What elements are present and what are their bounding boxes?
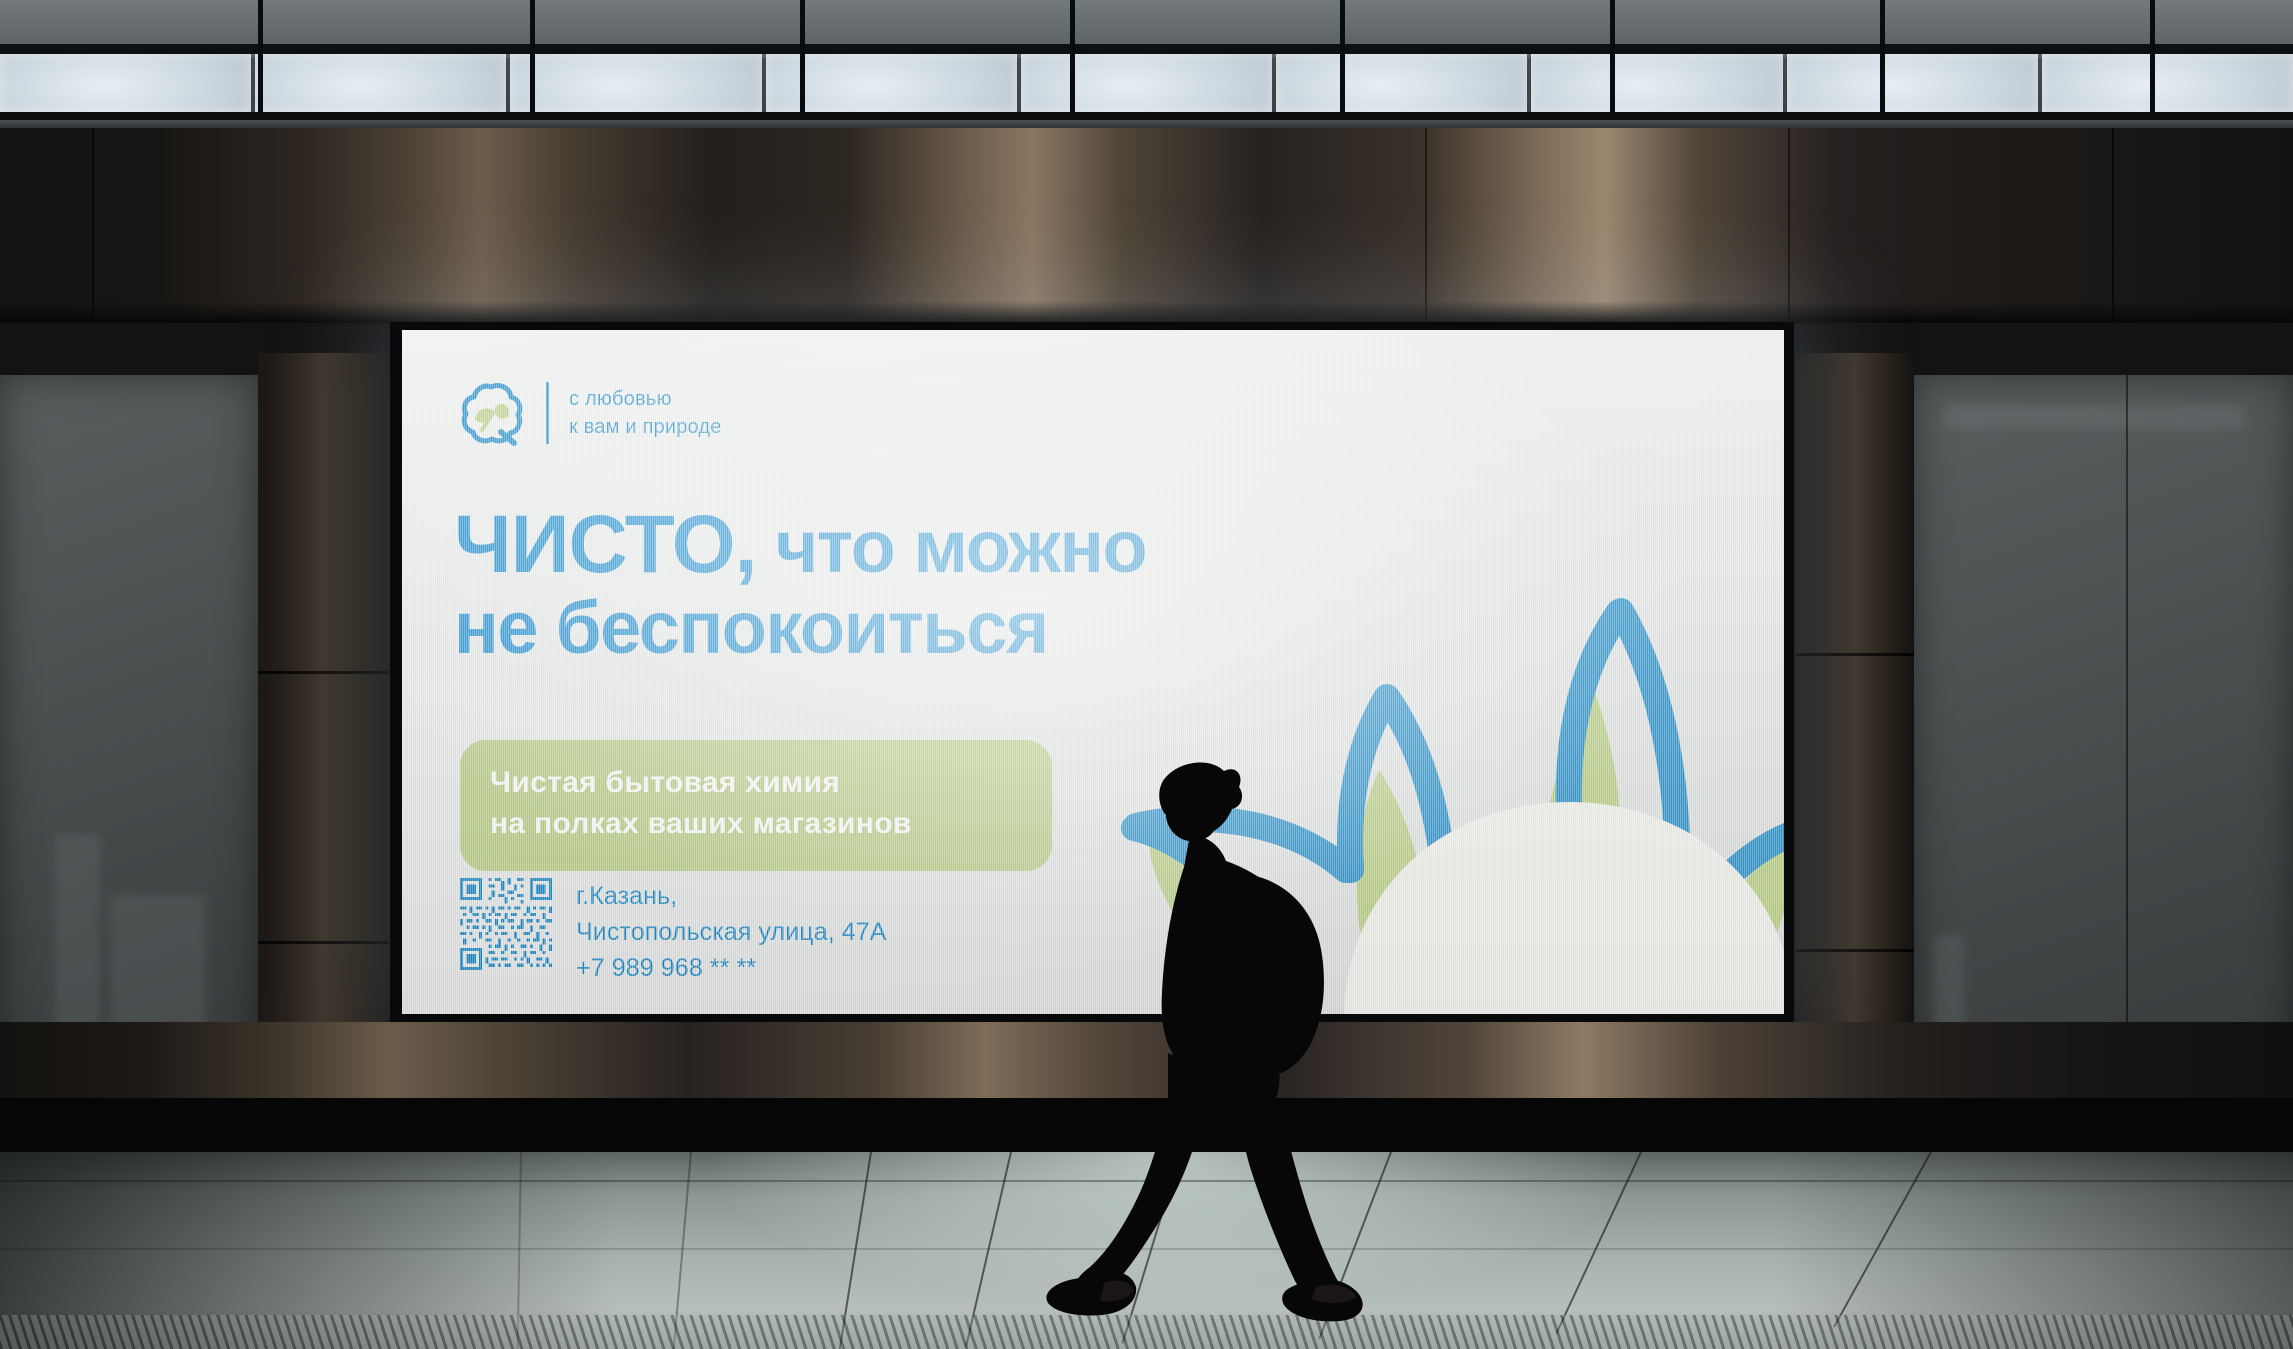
offer-badge-line-2: на полках ваших магазинов [490, 803, 1022, 844]
contact-street: Чистопольская улица, 47А [576, 914, 887, 950]
offer-badge: Чистая бытовая химия на полках ваших маг… [460, 740, 1052, 871]
right-glass-panel [1914, 375, 2293, 1065]
ceiling-lower-band [0, 112, 2293, 120]
ceiling-seam [2150, 0, 2155, 120]
contact-phone: +7 989 968 ** ** [576, 950, 887, 986]
wall-seam [1788, 128, 1790, 323]
ceiling-light-panel [2042, 54, 2293, 112]
logo-divider [546, 382, 549, 444]
ceiling-seam [530, 0, 535, 120]
contact-details: г.Казань, Чистопольская улица, 47А +7 98… [576, 878, 887, 986]
ceiling-seam [1610, 0, 1615, 120]
headline-emphasis: ЧИСТО, [454, 499, 756, 590]
walking-pedestrian-silhouette [1040, 735, 1380, 1335]
ceiling-seam [1340, 0, 1345, 120]
ceiling-light-panel [1787, 54, 2038, 112]
ceiling-light-panel [1531, 54, 1782, 112]
street-scene: с любовью к вам и природе ЧИСТО, что мож… [0, 0, 2293, 1349]
wall-seam [92, 128, 94, 323]
wall-seam [2112, 128, 2114, 323]
ceiling-light-panel [255, 54, 506, 112]
wall-seam [1425, 128, 1427, 323]
ceiling [0, 0, 2293, 128]
brand-logo-row: с любовью к вам и природе [460, 380, 722, 446]
ceiling-light-panel-row [0, 54, 2293, 112]
ceiling-light-panel [510, 54, 761, 112]
brand-tagline: с любовью к вам и природе [569, 385, 722, 442]
headline-line-1: ЧИСТО, что можно [454, 502, 1146, 589]
right-glass-seam [2126, 375, 2128, 1065]
left-glass-panel [0, 375, 258, 1065]
upper-bronze-wall-band [0, 128, 2293, 323]
contact-city: г.Казань, [576, 878, 887, 914]
ceiling-seam [800, 0, 805, 120]
ceiling-light-panel [1276, 54, 1527, 112]
ceiling-seam [1070, 0, 1075, 120]
headline-line-1-rest: что можно [756, 505, 1146, 588]
offer-badge-line-1: Чистая бытовая химия [490, 762, 1022, 803]
qr-code-icon[interactable] [460, 878, 552, 970]
ceiling-seam [1880, 0, 1885, 120]
ceiling-seam [258, 0, 263, 120]
contact-block: г.Казань, Чистопольская улица, 47А +7 98… [460, 878, 887, 986]
right-pillar [1796, 353, 1914, 1065]
ceiling-divider-band [0, 44, 2293, 54]
left-pillar [258, 353, 388, 1065]
cloud-leaf-logo-icon [460, 380, 526, 446]
ceiling-upper-panels [0, 0, 2293, 44]
ceiling-light-panel [1021, 54, 1272, 112]
billboard-headline: ЧИСТО, что можно не беспокоиться [454, 502, 1146, 667]
headline-line-2: не беспокоиться [454, 589, 1146, 667]
ceiling-light-panel [0, 54, 251, 112]
